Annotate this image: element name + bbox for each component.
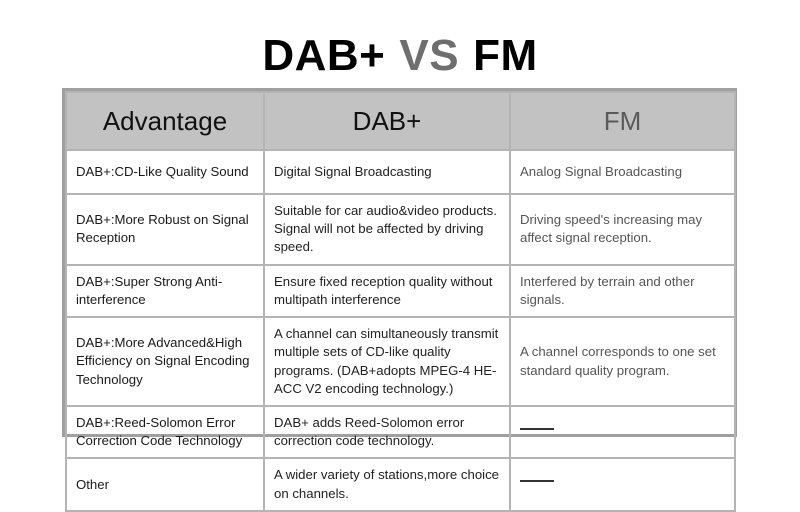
table-row: Other A wider variety of stations,more c… xyxy=(66,458,735,510)
page-title: DAB+VSFM xyxy=(0,34,800,78)
title-vs: VS xyxy=(399,31,459,80)
dash-icon xyxy=(520,428,554,430)
cell-fm xyxy=(510,458,735,510)
table-row: DAB+:Reed-Solomon Error Correction Code … xyxy=(66,406,735,458)
table-body: DAB+:CD-Like Quality Sound Digital Signa… xyxy=(66,150,735,511)
cell-advantage: DAB+:CD-Like Quality Sound xyxy=(66,150,264,194)
cell-fm xyxy=(510,406,735,458)
table-row: DAB+:More Robust on Signal Reception Sui… xyxy=(66,194,735,265)
column-header-dab: DAB+ xyxy=(264,92,510,150)
cell-dab: A channel can simultaneously transmit mu… xyxy=(264,317,510,406)
cell-advantage: Other xyxy=(66,458,264,510)
not-applicable-dash xyxy=(520,422,725,442)
dash-icon xyxy=(520,480,554,482)
cell-advantage: DAB+:Super Strong Anti-interference xyxy=(66,265,264,317)
table-row: DAB+:CD-Like Quality Sound Digital Signa… xyxy=(66,150,735,194)
table-row: DAB+:Super Strong Anti-interference Ensu… xyxy=(66,265,735,317)
cell-dab: Ensure fixed reception quality without m… xyxy=(264,265,510,317)
cell-fm: Driving speed's increasing may affect si… xyxy=(510,194,735,265)
comparison-table: Advantage DAB+ FM DAB+:CD-Like Quality S… xyxy=(65,91,736,512)
cell-fm: A channel corresponds to one set standar… xyxy=(510,317,735,406)
table-header-row: Advantage DAB+ FM xyxy=(66,92,735,150)
cell-dab: A wider variety of stations,more choice … xyxy=(264,458,510,510)
table-row: DAB+:More Advanced&High Efficiency on Si… xyxy=(66,317,735,406)
cell-dab: Digital Signal Broadcasting xyxy=(264,150,510,194)
page-root: DAB+VSFM Advantage DAB+ FM DAB+:CD-Like … xyxy=(0,0,800,490)
table-header: Advantage DAB+ FM xyxy=(66,92,735,150)
cell-dab: DAB+ adds Reed-Solomon error correction … xyxy=(264,406,510,458)
cell-advantage: DAB+:Reed-Solomon Error Correction Code … xyxy=(66,406,264,458)
title-fm: FM xyxy=(473,31,538,80)
column-header-advantage: Advantage xyxy=(66,92,264,150)
cell-fm: Interfered by terrain and other signals. xyxy=(510,265,735,317)
not-applicable-dash xyxy=(520,475,725,495)
cell-fm: Analog Signal Broadcasting xyxy=(510,150,735,194)
cell-advantage: DAB+:More Robust on Signal Reception xyxy=(66,194,264,265)
cell-advantage: DAB+:More Advanced&High Efficiency on Si… xyxy=(66,317,264,406)
title-dab: DAB+ xyxy=(262,31,385,80)
comparison-table-container: Advantage DAB+ FM DAB+:CD-Like Quality S… xyxy=(62,88,737,437)
column-header-fm: FM xyxy=(510,92,735,150)
cell-dab: Suitable for car audio&video products. S… xyxy=(264,194,510,265)
